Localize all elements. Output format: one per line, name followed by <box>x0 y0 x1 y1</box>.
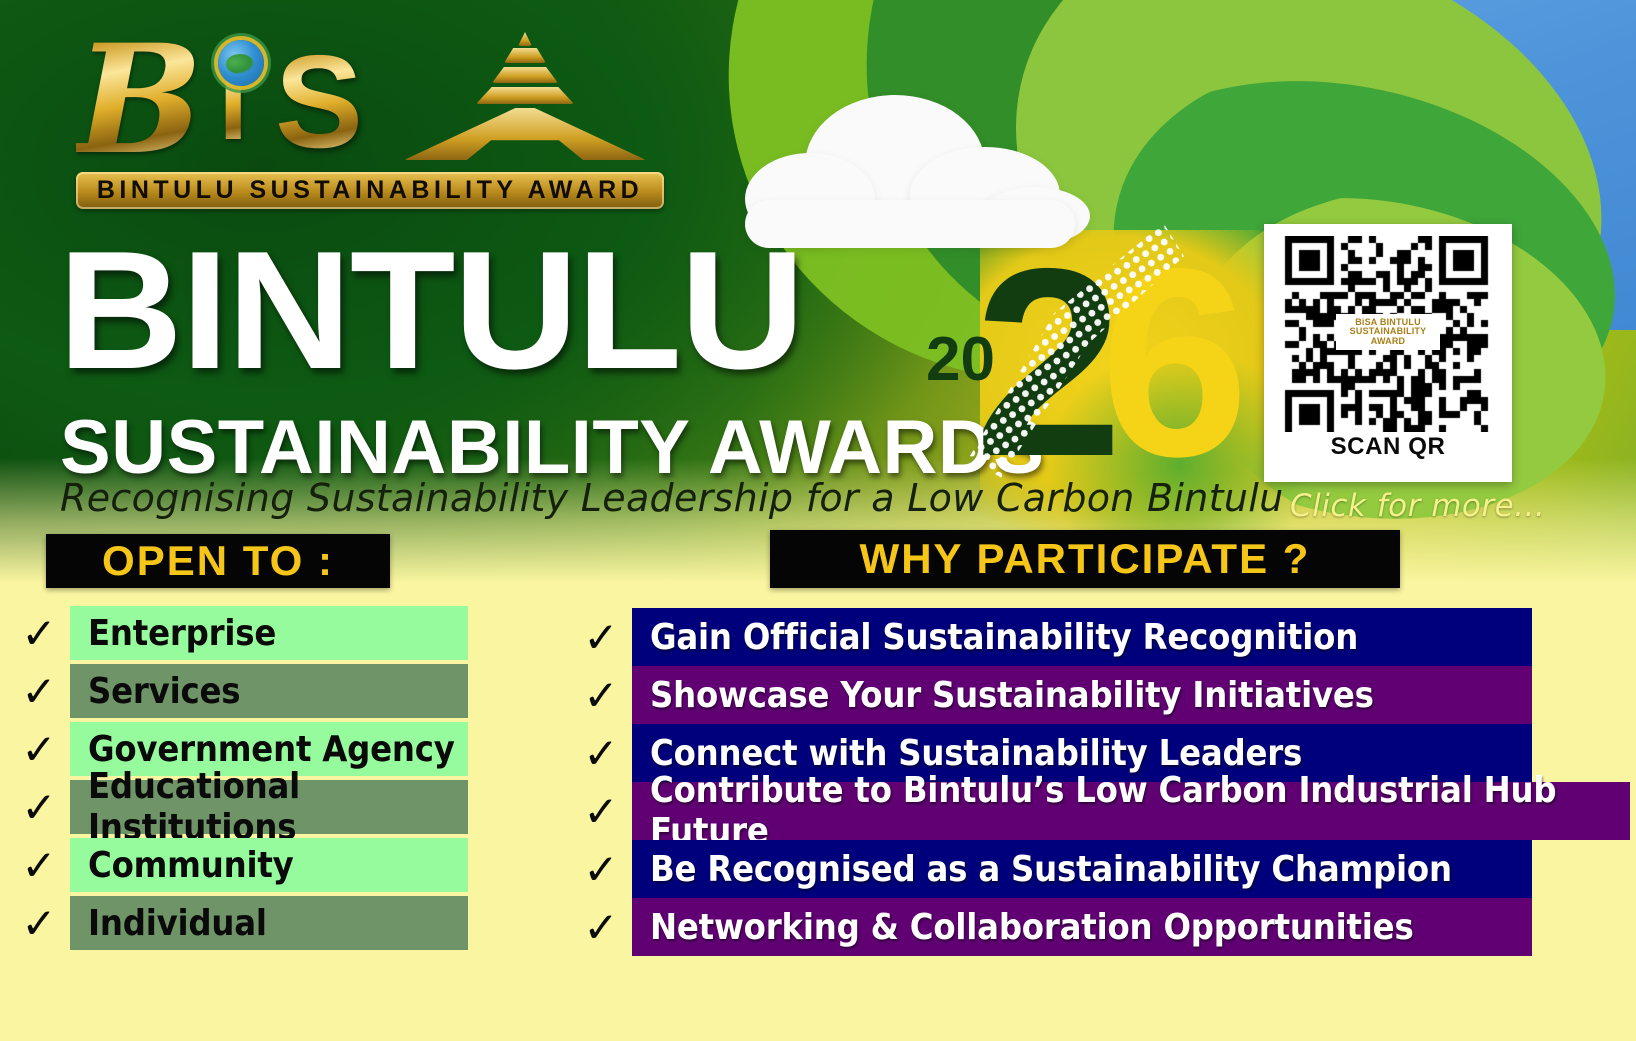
open-to-header: OPEN TO : <box>46 534 390 588</box>
globe-icon <box>218 40 264 86</box>
check-icon: ✓ <box>8 725 70 774</box>
logo-banner-label: BINTULU SUSTAINABILITY AWARD <box>97 176 643 205</box>
why-participate-header-label: WHY PARTICIPATE ? <box>860 535 1311 583</box>
why-item-row-bar: Showcase Your Sustainability Initiatives <box>632 666 1532 724</box>
check-icon: ✓ <box>570 671 632 720</box>
click-for-more-link[interactable]: Click for more... <box>1290 488 1545 524</box>
page-title: BINTULU <box>58 226 803 394</box>
year-badge: 2 6 20 <box>912 232 1212 494</box>
check-icon: ✓ <box>570 845 632 894</box>
pyramid-tower-icon <box>400 32 650 160</box>
list-item: ✓Enterprise <box>8 604 478 662</box>
poster-root: B i S BINTULU SUSTAINABILITY AWARD BINTU… <box>0 0 1636 1041</box>
check-icon: ✓ <box>8 899 70 948</box>
open-to-item-label: Individual <box>88 903 267 944</box>
qr-card[interactable]: BiSA BINTULU SUSTAINABILITY AWARD SCAN Q… <box>1264 224 1512 482</box>
check-icon: ✓ <box>8 609 70 658</box>
why-item-label: Be Recognised as a Sustainability Champi… <box>650 849 1452 890</box>
why-item-label: Gain Official Sustainability Recognition <box>650 617 1358 658</box>
check-icon: ✓ <box>570 787 632 836</box>
open-to-item-label: Community <box>88 845 294 886</box>
open-to-item-row-bar: Services <box>70 664 468 718</box>
year-prefix: 20 <box>926 324 995 395</box>
list-item: ✓Networking & Collaboration Opportunitie… <box>570 898 1630 956</box>
qr-code-image[interactable]: BiSA BINTULU SUSTAINABILITY AWARD <box>1283 236 1493 432</box>
list-item: ✓Gain Official Sustainability Recognitio… <box>570 608 1630 666</box>
logo-letter-s: S <box>275 26 363 177</box>
check-icon: ✓ <box>570 729 632 778</box>
why-participate-list: ✓Gain Official Sustainability Recognitio… <box>570 608 1630 956</box>
list-item: ✓Services <box>8 662 478 720</box>
logo-banner: BINTULU SUSTAINABILITY AWARD <box>76 172 664 209</box>
list-item: ✓Contribute to Bintulu’s Low Carbon Indu… <box>570 782 1630 840</box>
check-icon: ✓ <box>8 667 70 716</box>
check-icon: ✓ <box>570 903 632 952</box>
qr-caption: SCAN QR <box>1331 433 1446 461</box>
open-to-item-label: Services <box>88 671 240 712</box>
open-to-item-row-bar: Community <box>70 838 468 892</box>
why-item-row-bar: Networking & Collaboration Opportunities <box>632 898 1532 956</box>
list-item: ✓Individual <box>8 894 478 952</box>
why-item-label: Connect with Sustainability Leaders <box>650 733 1302 774</box>
qr-center-logo: BiSA BINTULU SUSTAINABILITY AWARD <box>1336 314 1440 350</box>
why-participate-header: WHY PARTICIPATE ? <box>770 530 1400 588</box>
open-to-item-label: Government Agency <box>88 729 455 770</box>
check-icon: ✓ <box>8 783 70 832</box>
open-to-list: ✓Enterprise✓Services✓Government Agency✓E… <box>8 604 478 952</box>
list-item: ✓Educational Institutions <box>8 778 478 836</box>
logo-letter-b: B <box>76 12 195 188</box>
why-item-row-bar: Gain Official Sustainability Recognition <box>632 608 1532 666</box>
why-item-row-bar: Contribute to Bintulu’s Low Carbon Indus… <box>632 782 1630 840</box>
open-to-item-row-bar: Enterprise <box>70 606 468 660</box>
list-item: ✓Be Recognised as a Sustainability Champ… <box>570 840 1630 898</box>
check-icon: ✓ <box>570 613 632 662</box>
bisa-logo-mark: B i S <box>70 22 670 167</box>
list-item: ✓Showcase Your Sustainability Initiative… <box>570 666 1630 724</box>
open-to-item-row-bar: Individual <box>70 896 468 950</box>
bisa-logo: B i S BINTULU SUSTAINABILITY AWARD <box>70 22 670 212</box>
open-to-item-row-bar: Educational Institutions <box>70 780 468 834</box>
open-to-item-label: Enterprise <box>88 613 276 654</box>
why-item-label: Networking & Collaboration Opportunities <box>650 907 1414 948</box>
why-item-label: Showcase Your Sustainability Initiatives <box>650 675 1374 716</box>
check-icon: ✓ <box>8 841 70 890</box>
why-item-row-bar: Be Recognised as a Sustainability Champi… <box>632 840 1532 898</box>
list-item: ✓Community <box>8 836 478 894</box>
open-to-header-label: OPEN TO : <box>102 537 334 585</box>
